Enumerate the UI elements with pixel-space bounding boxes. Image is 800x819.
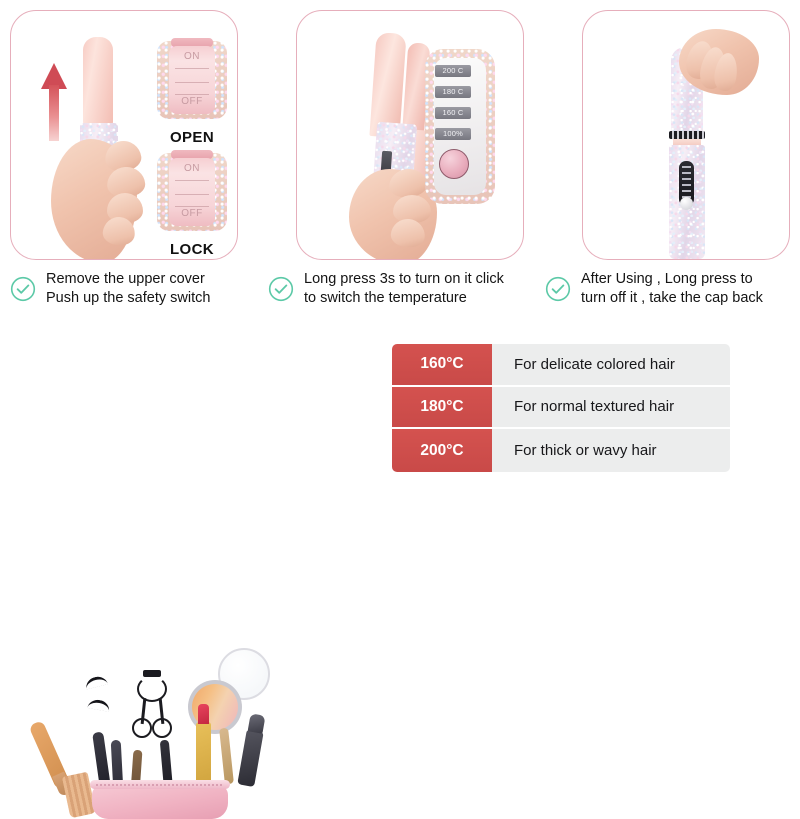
cosmetics-flatlay-image	[0, 322, 300, 495]
black-brush-icon	[237, 729, 263, 787]
temperature-display-180: 180 C	[435, 86, 471, 98]
table-row: 180°C For normal textured hair	[392, 387, 730, 430]
instruction-panels: ON OFF OPEN ON OFF LOCK	[0, 0, 800, 265]
caption-step-1: Remove the upper cover Push up the safet…	[10, 270, 210, 308]
caption-text: After Using , Long press to turn off it …	[581, 270, 763, 308]
pouch-tassel	[62, 772, 96, 818]
temperature-description: For delicate colored hair	[492, 344, 730, 387]
temperature-description: For thick or wavy hair	[492, 429, 730, 472]
device-cap	[83, 37, 113, 125]
check-circle-icon	[268, 276, 294, 302]
temperature-description: For normal textured hair	[492, 387, 730, 430]
caption-text: Long press 3s to turn on it click to swi…	[304, 270, 504, 308]
temperature-table: 160°C For delicate colored hair 180°C Fo…	[392, 344, 730, 472]
temperature-value: 160°C	[392, 344, 492, 387]
check-circle-icon	[10, 276, 36, 302]
power-button	[439, 149, 469, 179]
device-side-button	[680, 197, 693, 210]
spoolie-brush-icon	[219, 728, 234, 785]
device-ring-detail	[669, 131, 705, 139]
false-eyelash-icon	[84, 674, 108, 689]
switch-lock-diagram: ON OFF	[157, 153, 227, 231]
switch-open-diagram: ON OFF	[157, 41, 227, 119]
false-eyelash-icon	[87, 698, 110, 712]
switch-on-label: ON	[169, 51, 215, 62]
control-panel-diagram: 200 C 180 C 160 C 100%	[425, 49, 495, 204]
caption-text: Remove the upper cover Push up the safet…	[46, 270, 210, 308]
eyelash-curler-icon	[130, 670, 174, 746]
panel-power-on: 200 C 180 C 160 C 100%	[296, 10, 524, 260]
switch-open-caption: OPEN	[142, 129, 238, 146]
battery-display: 100%	[435, 128, 471, 140]
temperature-value: 200°C	[392, 429, 492, 472]
temperature-value: 180°C	[392, 387, 492, 430]
switch-lock-caption: LOCK	[142, 241, 238, 258]
pouch-zipper	[90, 780, 230, 789]
caption-step-2: Long press 3s to turn on it click to swi…	[268, 270, 504, 308]
switch-off-label: OFF	[169, 208, 215, 219]
switch-off-label: OFF	[169, 96, 215, 107]
caption-step-3: After Using , Long press to turn off it …	[545, 270, 763, 308]
makeup-pouch	[92, 785, 228, 819]
up-arrow-icon	[41, 63, 67, 141]
switch-on-label: ON	[169, 163, 215, 174]
table-row: 160°C For delicate colored hair	[392, 344, 730, 387]
check-circle-icon	[545, 276, 571, 302]
temperature-display-160: 160 C	[435, 107, 471, 119]
panel-remove-cover: ON OFF OPEN ON OFF LOCK	[10, 10, 238, 260]
table-row: 200°C For thick or wavy hair	[392, 429, 730, 472]
temperature-display-200: 200 C	[435, 65, 471, 77]
panel-after-using	[582, 10, 790, 260]
